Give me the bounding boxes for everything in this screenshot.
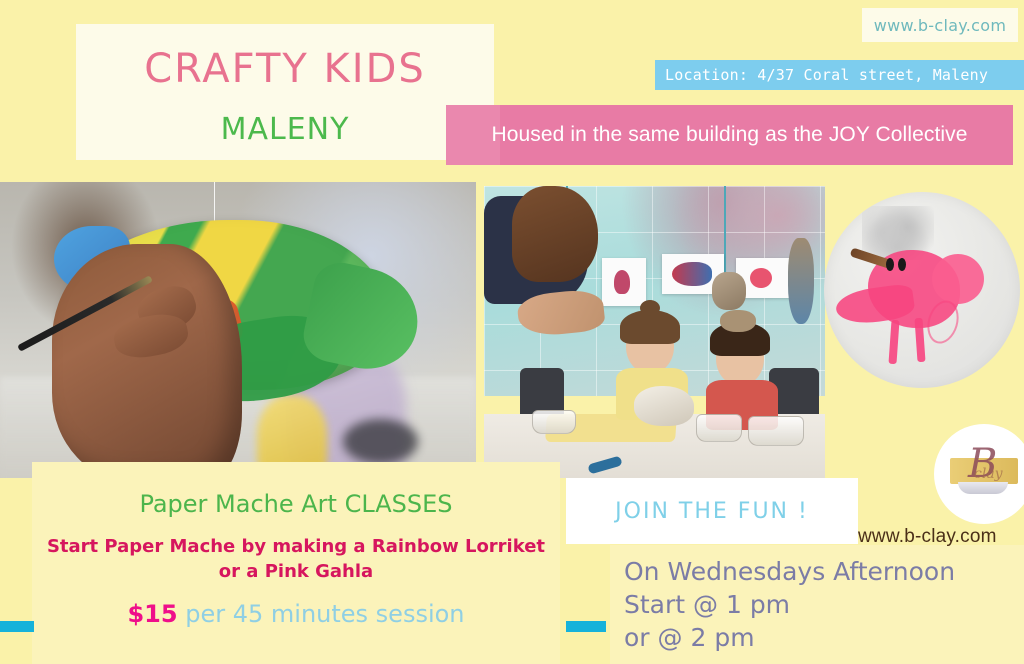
- wall-artwork: [602, 258, 646, 306]
- b-clay-logo: B clay: [934, 424, 1024, 524]
- title-card: CRAFTY KIDS MALENY: [76, 24, 494, 160]
- supply-container: [532, 410, 576, 434]
- website-link-bottom[interactable]: www.b-clay.com: [858, 526, 997, 548]
- instructor-hair: [512, 186, 598, 282]
- photo-children-craft-workshop: [484, 186, 825, 478]
- hanging-sculpture: [788, 238, 814, 324]
- finger: [111, 310, 191, 362]
- accent-bar-left: [0, 621, 34, 632]
- supply-container: [696, 414, 742, 442]
- schedule-card: On Wednesdays Afternoon Start @ 1 pm or …: [610, 545, 1024, 664]
- poster-canvas: CRAFTY KIDS MALENY www.b-clay.com Locati…: [0, 0, 1024, 664]
- classes-description-line1: Start Paper Mache by making a Rainbow Lo…: [32, 534, 560, 559]
- accent-bar-right: [566, 621, 606, 632]
- supply-container: [748, 416, 804, 446]
- price-row: $15 per 45 minutes session: [32, 600, 560, 628]
- galah-eye: [898, 258, 906, 271]
- join-the-fun-label: JOIN THE FUN !: [615, 499, 809, 524]
- website-link-top[interactable]: www.b-clay.com: [862, 8, 1018, 42]
- logo-wordmark: clay: [974, 466, 1003, 482]
- instructor: [484, 186, 602, 356]
- photo-hand-painting-lorikeet: [0, 182, 476, 478]
- join-the-fun-band: JOIN THE FUN !: [566, 478, 858, 544]
- paint-pot-black: [343, 419, 418, 464]
- price-unit: per 45 minutes session: [185, 600, 464, 628]
- price-amount: $15: [127, 600, 177, 628]
- classes-info-card: Paper Mache Art CLASSES Start Paper Mach…: [32, 462, 560, 664]
- website-link-bottom-label: www.b-clay.com: [858, 526, 997, 547]
- galah-leg: [888, 320, 899, 364]
- website-link-top-label: www.b-clay.com: [874, 16, 1007, 35]
- joy-collective-banner: Housed in the same building as the JOY C…: [446, 105, 1013, 165]
- classes-heading: Paper Mache Art CLASSES: [32, 490, 560, 518]
- classes-description-line2: or a Pink Gahla: [32, 559, 560, 584]
- pink-galah-plate: [824, 192, 1020, 388]
- child-hair-bun: [640, 300, 660, 316]
- galah-eye: [886, 258, 894, 271]
- page-subtitle: MALENY: [76, 112, 494, 147]
- hanging-wire: [724, 186, 726, 278]
- hanging-sculpture: [712, 272, 746, 310]
- schedule-text: On Wednesdays Afternoon Start @ 1 pm or …: [624, 555, 955, 654]
- location-banner-label: Location: 4/37 Coral street, Maleny: [665, 66, 988, 84]
- location-banner: Location: 4/37 Coral street, Maleny: [655, 60, 1024, 90]
- page-title: CRAFTY KIDS: [76, 46, 494, 92]
- clay-lump: [634, 386, 694, 426]
- joy-collective-banner-label: Housed in the same building as the JOY C…: [491, 123, 967, 147]
- galah-head: [932, 254, 984, 304]
- classes-description: Start Paper Mache by making a Rainbow Lo…: [32, 534, 560, 584]
- child-headpiece: [720, 310, 756, 332]
